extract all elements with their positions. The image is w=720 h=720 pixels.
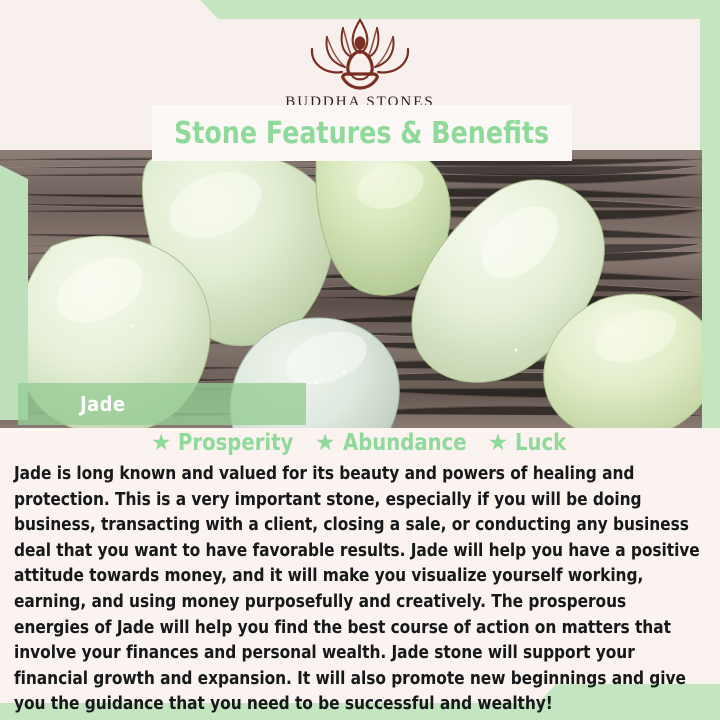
benefit-item-prosperity: ★ Prosperity	[151, 430, 300, 456]
title-banner: Stone Features & Benefits	[152, 105, 572, 161]
star-icon: ★	[315, 431, 336, 454]
star-icon: ★	[488, 431, 509, 454]
brand-logo: BUDDHA STONES	[0, 16, 720, 111]
benefit-label: Luck	[515, 430, 566, 456]
stone-name-label: Jade	[80, 392, 126, 416]
benefit-label: Prosperity	[178, 430, 293, 456]
benefits-row: ★ Prosperity ★ Abundance ★ Luck	[0, 430, 720, 456]
benefit-item-luck: ★ Luck	[488, 430, 570, 456]
stone-description: Jade is long known and valued for its be…	[14, 462, 704, 718]
star-icon: ★	[151, 431, 172, 454]
stone-name-bar: Jade	[18, 383, 306, 425]
infographic-page: BUDDHA STONES Stone Features & Benefits	[0, 0, 720, 720]
benefit-label: Abundance	[343, 430, 467, 456]
photo-right-green-accent	[702, 150, 720, 428]
lotus-meditation-icon	[299, 16, 421, 90]
page-title: Stone Features & Benefits	[174, 116, 549, 151]
benefit-item-abundance: ★ Abundance	[315, 430, 473, 456]
photo-left-green-accent	[0, 165, 28, 420]
